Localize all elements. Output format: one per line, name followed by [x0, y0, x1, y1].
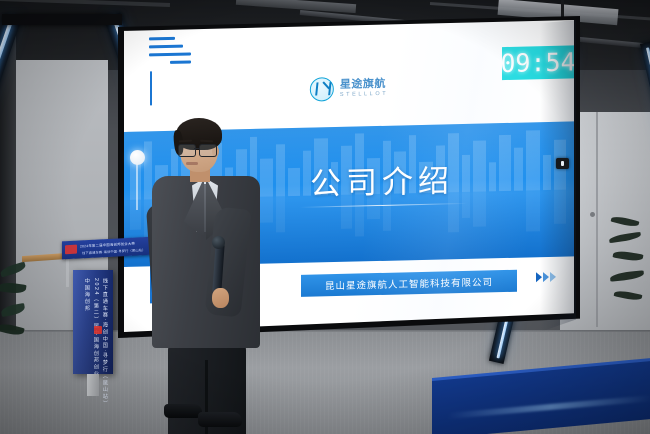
presenter-mouth — [186, 162, 198, 165]
orb-lamp — [130, 150, 145, 165]
podium-logo-icon — [94, 326, 102, 334]
stacked-bars-decor-icon — [149, 36, 191, 69]
table-leg — [66, 259, 69, 287]
event-podium-sign: 线下直通车赛·海创中国·寻梦行（昆山站） 2024（第二）届中国海创邦创业大赛 … — [73, 270, 113, 374]
presenter — [150, 112, 265, 434]
presenter-shoe — [198, 412, 242, 427]
photo-scene: 星途旗航 STELLLOT 09:54 — [0, 0, 650, 434]
brand-logo: 星途旗航 STELLLOT — [310, 76, 388, 102]
podium-text-col-1: 线下直通车赛·海创中国·寻梦行（昆山站） — [100, 278, 108, 407]
x-frame-top-bar — [2, 14, 122, 25]
banner-line-2: 线下直通车赛·海创中国·寻梦行（昆山站） — [82, 247, 146, 255]
banner-logo-icon — [65, 245, 77, 255]
brand-name-en: STELLLOT — [340, 92, 388, 99]
countdown-timer: 09:54 — [502, 45, 574, 80]
podium-base-stem — [87, 374, 99, 396]
vertical-accent-line — [150, 71, 152, 105]
triple-chevron-right-icon — [536, 272, 556, 282]
podium-text-col-3: 中国海创邦 — [82, 278, 90, 312]
glasses-icon — [178, 144, 219, 155]
brand-name-cn: 星途旗航 — [340, 79, 388, 91]
company-name-bar: 昆山星途旗航人工智能科技有限公司 — [301, 270, 517, 297]
presenter-shoe — [164, 404, 202, 418]
orb-lamp-stem — [136, 164, 138, 210]
microphone-head — [212, 236, 225, 249]
x-frame-bar — [640, 41, 650, 361]
stelllot-n-logo-icon — [310, 77, 334, 102]
screen-sensor-led — [561, 161, 564, 166]
slide-title: 公司介绍 — [310, 155, 454, 203]
timer-value: 09:54 — [500, 47, 574, 78]
presenter-hand — [212, 288, 229, 308]
x-frame-led-strip — [646, 47, 650, 358]
